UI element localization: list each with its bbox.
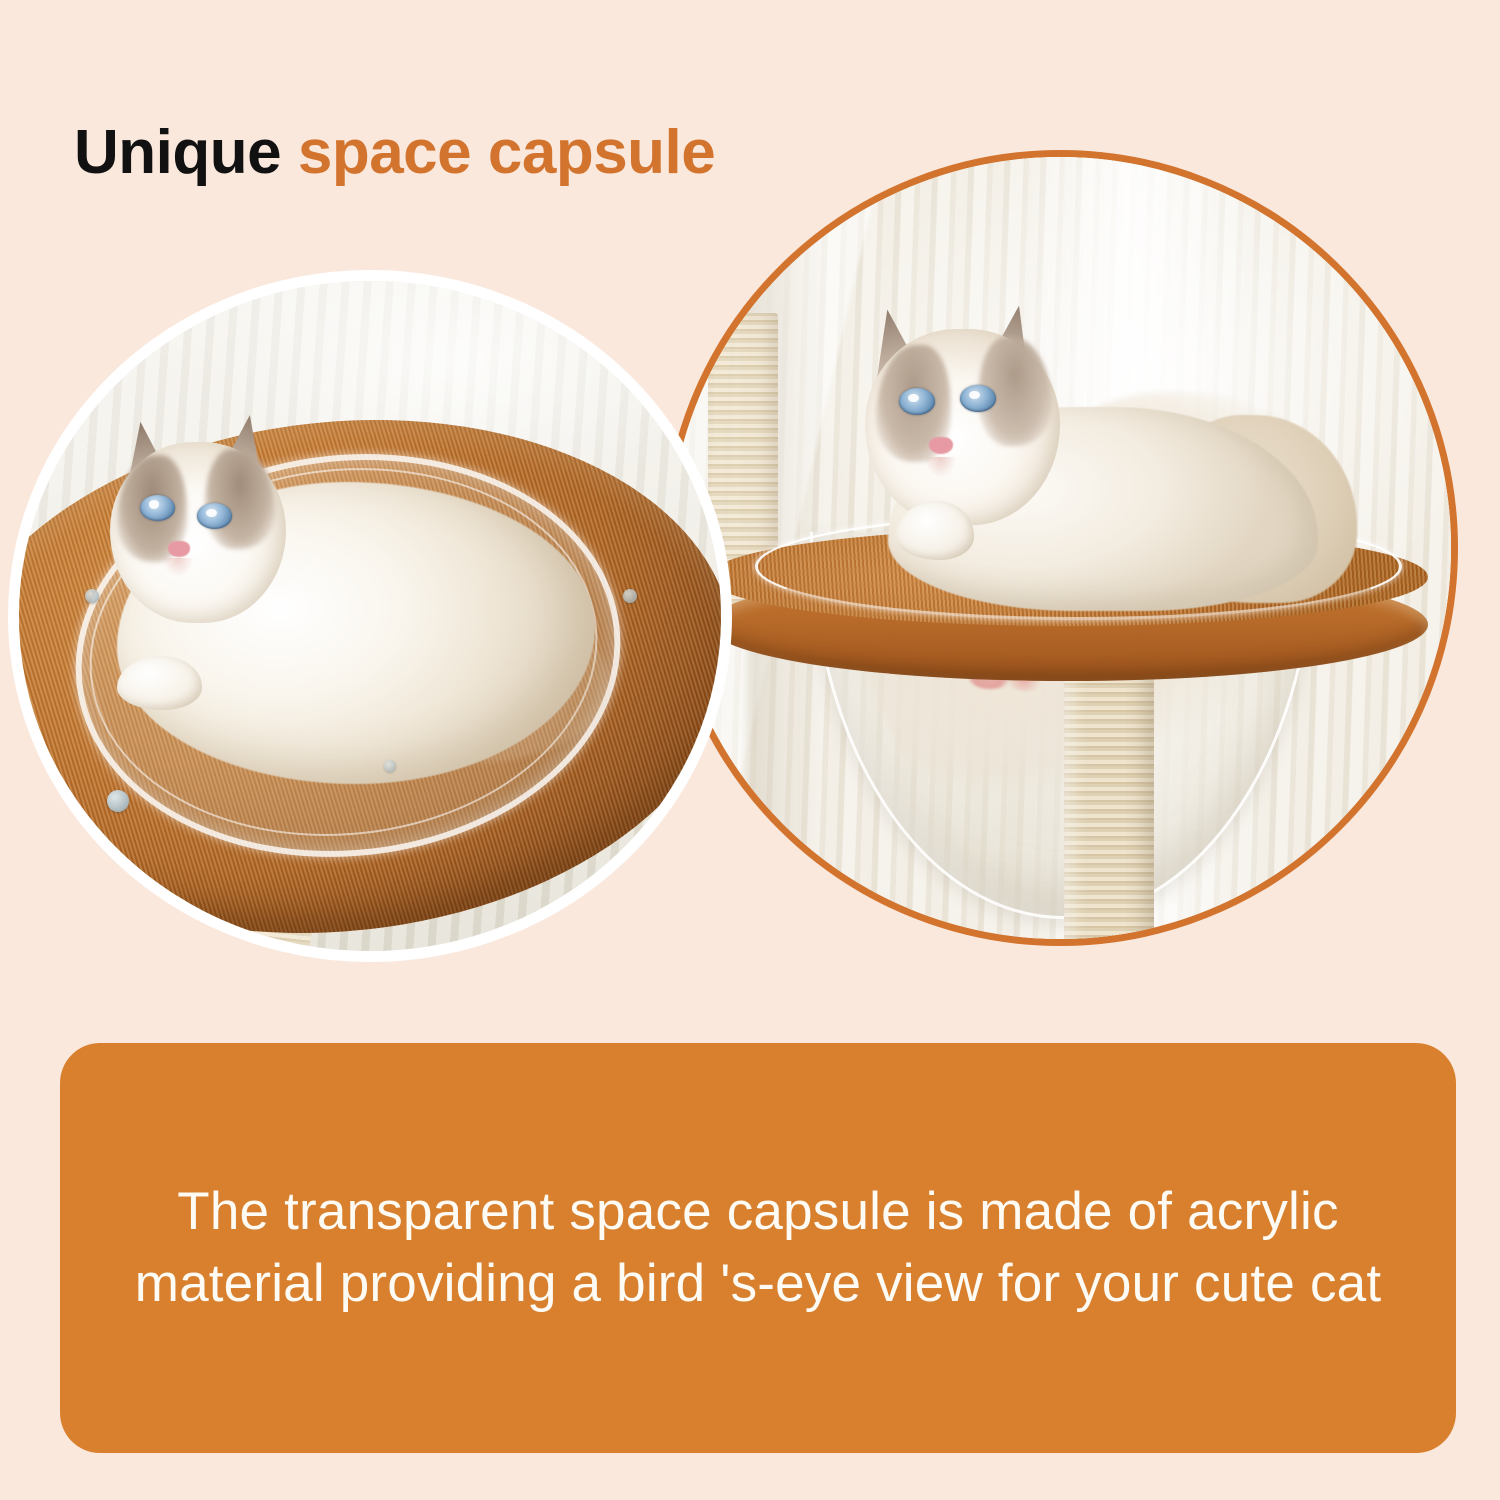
left-photo-scene	[19, 281, 721, 951]
cat-eye-left	[899, 388, 935, 415]
cat-eye-right	[960, 385, 996, 412]
mounting-screw	[384, 760, 396, 772]
right-photo-circle	[662, 150, 1458, 946]
cat-mouth	[924, 457, 957, 477]
cat-eye-left	[140, 495, 175, 520]
caption-panel: The transparent space capsule is made of…	[60, 1043, 1456, 1453]
caption-text: The transparent space capsule is made of…	[130, 1176, 1386, 1320]
right-photo-scene	[669, 157, 1451, 939]
page-title: Unique space capsule	[74, 120, 715, 185]
cat-nose	[168, 541, 190, 557]
page-title-primary: Unique	[74, 118, 281, 187]
cat-front-paw	[117, 656, 201, 710]
product-feature-page: Unique space capsule	[0, 0, 1500, 1500]
left-photo-circle	[8, 270, 732, 962]
page-title-accent: space capsule	[298, 118, 715, 187]
cat-eye-right	[197, 503, 232, 528]
mounting-screw	[107, 790, 129, 812]
mounting-screw	[623, 589, 637, 603]
